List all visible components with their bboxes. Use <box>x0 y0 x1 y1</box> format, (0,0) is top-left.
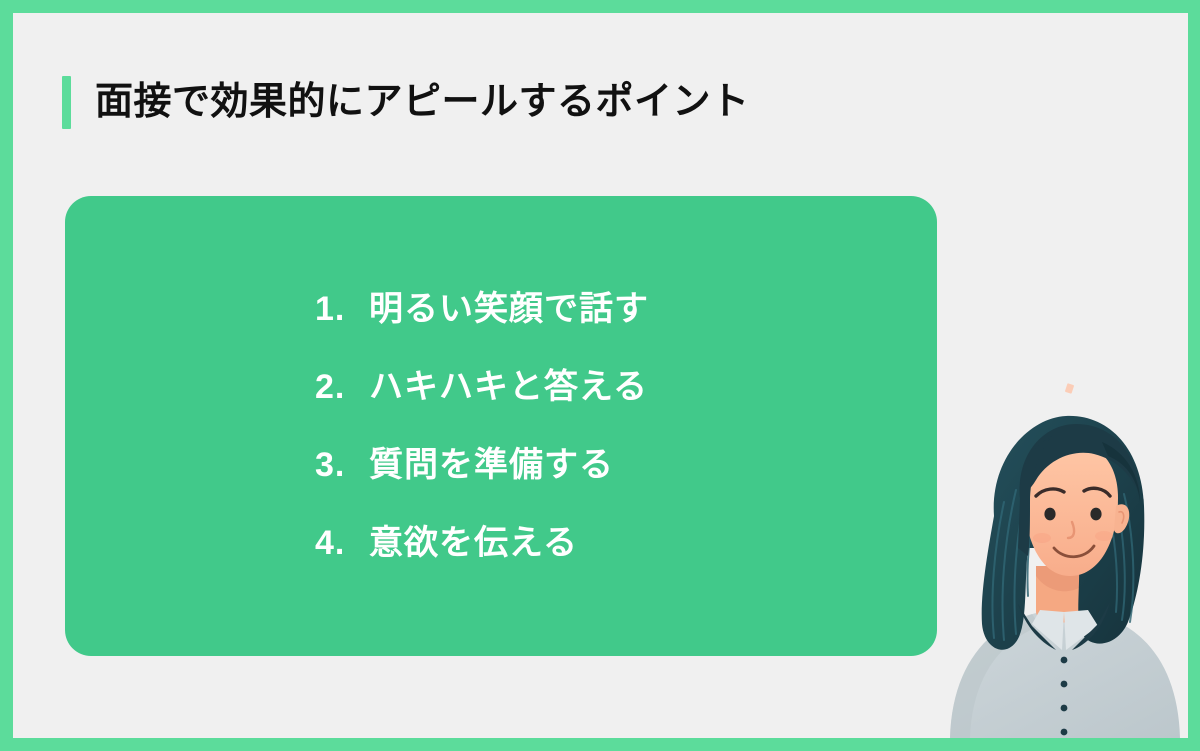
page-title: 面接で効果的にアピールするポイント <box>62 74 750 130</box>
slide-frame: 面接で効果的にアピールするポイント 1. 明るい笑顔で話す 2. ハキハキと答え… <box>0 0 1200 751</box>
decorative-speck <box>1065 383 1074 394</box>
list-item: 4. 意欲を伝える <box>315 526 578 560</box>
points-card: 1. 明るい笑顔で話す 2. ハキハキと答える 3. 質問を準備する 4. 意欲… <box>65 196 937 656</box>
list-item-number: 1. <box>315 292 367 326</box>
title-text: 面接で効果的にアピールするポイント <box>95 83 750 121</box>
list-item-number: 3. <box>315 448 367 482</box>
list-item-number: 2. <box>315 370 367 404</box>
list-item-label: 明るい笑顔で話す <box>369 292 649 326</box>
title-accent-bar <box>62 76 71 129</box>
smiling-woman-illustration <box>932 398 1188 738</box>
list-item-label: 質問を準備する <box>369 448 614 482</box>
list-item: 3. 質問を準備する <box>315 448 614 482</box>
list-item: 2. ハキハキと答える <box>315 370 648 404</box>
list-item-number: 4. <box>315 526 367 560</box>
slide-canvas: 面接で効果的にアピールするポイント 1. 明るい笑顔で話す 2. ハキハキと答え… <box>13 13 1188 738</box>
list-item-label: 意欲を伝える <box>369 526 578 560</box>
list-item-label: ハキハキと答える <box>369 370 648 404</box>
points-list: 1. 明るい笑顔で話す 2. ハキハキと答える 3. 質問を準備する 4. 意欲… <box>65 196 937 656</box>
list-item: 1. 明るい笑顔で話す <box>315 292 649 326</box>
